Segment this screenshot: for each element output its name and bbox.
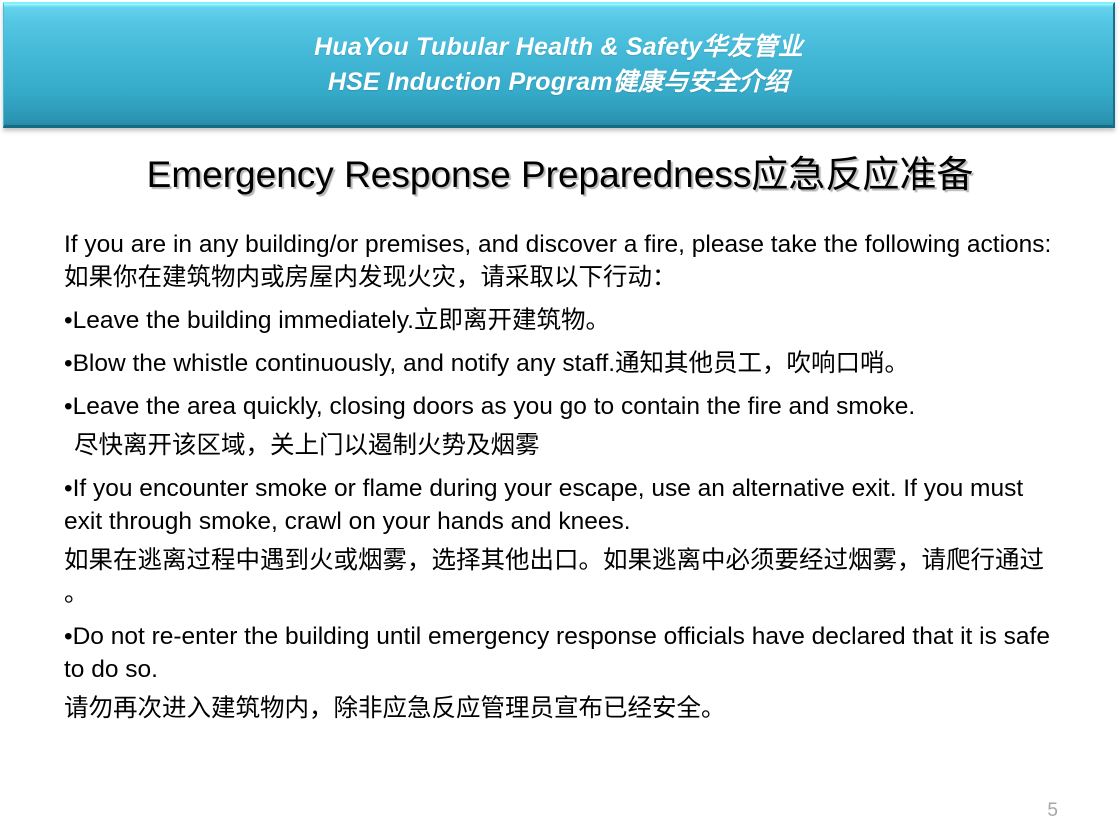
body-paragraph-chinese: 请勿再次进入建筑物内，除非应急反应管理员宣布已经安全。	[64, 692, 1064, 725]
body-bullet-item: •If you encounter smoke or flame during …	[64, 472, 1064, 538]
body-bullet-item: •Leave the area quickly, closing doors a…	[64, 390, 1064, 423]
page-number: 5	[1047, 800, 1058, 822]
slide-body: If you are in any building/or premises, …	[64, 228, 1064, 735]
body-bullet-item: •Blow the whistle continuously, and noti…	[64, 347, 1064, 380]
page-title: Emergency Response Preparedness应急反应准备	[0, 152, 1120, 198]
header-title-line-1: HuaYou Tubular Health & Safety华友管业	[314, 30, 803, 65]
body-paragraph-chinese: 尽快离开该区域，关上门以遏制火势及烟雾	[64, 429, 1064, 462]
body-paragraph-chinese: 如果在逃离过程中遇到火或烟雾，选择其他出口。如果逃离中必须要经过烟雾，请爬行通过…	[64, 544, 1064, 610]
header-banner: HuaYou Tubular Health & Safety华友管业 HSE I…	[3, 2, 1115, 128]
header-title-line-2: HSE Induction Program健康与安全介绍	[328, 65, 789, 100]
body-bullet-item: •Do not re-enter the building until emer…	[64, 620, 1064, 686]
body-bullet-item: •Leave the building immediately.立即离开建筑物。	[64, 304, 1064, 337]
body-paragraph: If you are in any building/or premises, …	[64, 228, 1064, 294]
